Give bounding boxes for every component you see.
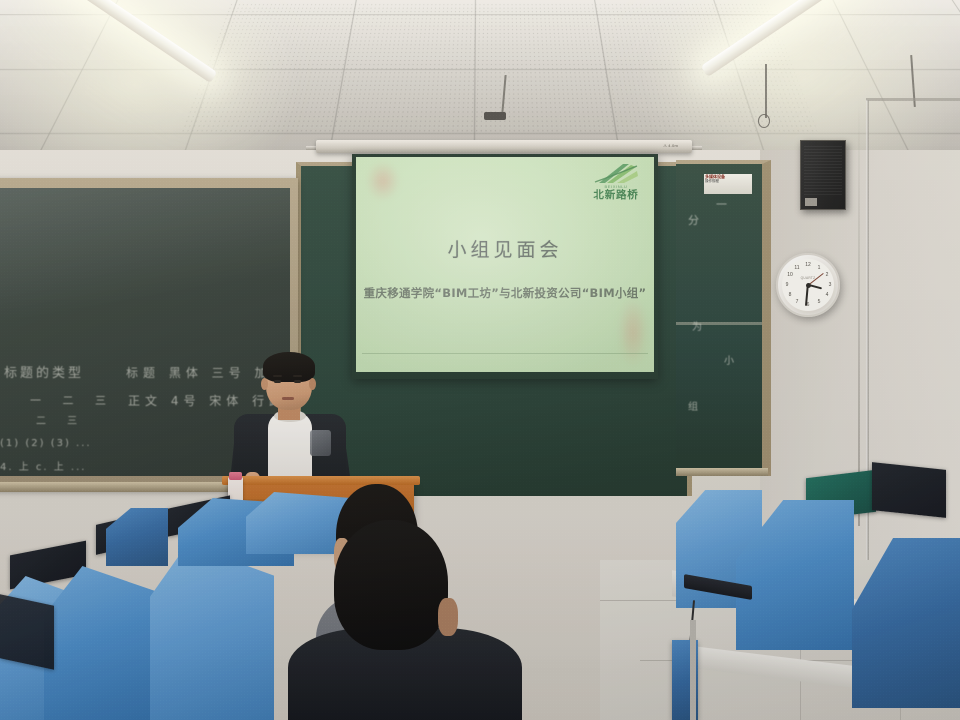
student-dark-jacket	[288, 520, 516, 720]
desk-privacy-panel	[150, 544, 274, 720]
clock-hour-mark: 7	[792, 299, 802, 305]
blackboard-right: 多媒体设备 操作规程	[676, 160, 771, 476]
clock-hour-mark: 3	[825, 282, 835, 288]
ceiling-sensor	[484, 112, 506, 120]
clock-hour-mark: 8	[785, 292, 795, 298]
notice-line-2: 操作规程	[705, 179, 719, 183]
clock-hour-mark: 4	[822, 292, 832, 298]
clock-center-pin	[806, 283, 811, 288]
projector-screen-housing: ⚠ 4.0m	[316, 140, 692, 153]
clock-hour-mark: 5	[814, 299, 824, 305]
road-bridge-swoosh-icon	[593, 163, 639, 184]
ceiling-hook-ring	[758, 114, 770, 128]
clock-hour-mark: 9	[782, 282, 792, 288]
slide-company-logo: BEIXINLU 北新路桥	[588, 163, 644, 205]
wall-corner-edge	[858, 96, 860, 526]
water-bottle	[228, 477, 243, 503]
slide-subtitle: 重庆移通学院“BIM工坊”与北新投资公司“BIM小组”	[356, 285, 654, 301]
clock-hour-mark: 10	[785, 272, 795, 278]
housing-label: ⚠ 4.0m	[663, 143, 678, 148]
chalk-ledge-right	[676, 468, 768, 476]
monitor-screen	[0, 594, 54, 669]
speaker-grill	[804, 144, 842, 195]
speaker-badge	[805, 198, 817, 206]
bottle-cap	[229, 472, 242, 480]
projected-slide: BEIXINLU 北新路桥 小组见面会 重庆移通学院“BIM工坊”与北新投资公司…	[356, 157, 654, 372]
slide-title: 小组见面会	[356, 235, 654, 262]
wall-clock: QUARTZ 12 1 2 3 4 5 6 7 8 9 10 11	[776, 253, 840, 317]
clock-hour-mark: 11	[792, 265, 802, 271]
slide-divider-line	[362, 353, 648, 354]
clock-hour-mark: 12	[803, 262, 813, 268]
presenter-hair	[263, 352, 315, 382]
ceiling-hanger-wire	[765, 64, 767, 118]
clock-hour-mark: 1	[814, 265, 824, 271]
monitor-screen	[872, 462, 946, 518]
projection-smudge	[618, 297, 648, 367]
jacket-emblem	[310, 430, 331, 456]
logo-company-name: 北新路桥	[588, 189, 644, 201]
ceiling-conduit	[866, 98, 960, 101]
classroom-photo: 标题的类型 一 二 三 二 三 (1) (2) (3) ... 4. 上 c. …	[0, 0, 960, 720]
equipment-notice-sign: 多媒体设备 操作规程	[704, 174, 752, 194]
projection-smudge	[366, 161, 400, 201]
wall-speaker	[800, 140, 846, 210]
logo-pinyin: BEIXINLU	[588, 184, 644, 189]
desk-frame-rail	[690, 620, 696, 720]
